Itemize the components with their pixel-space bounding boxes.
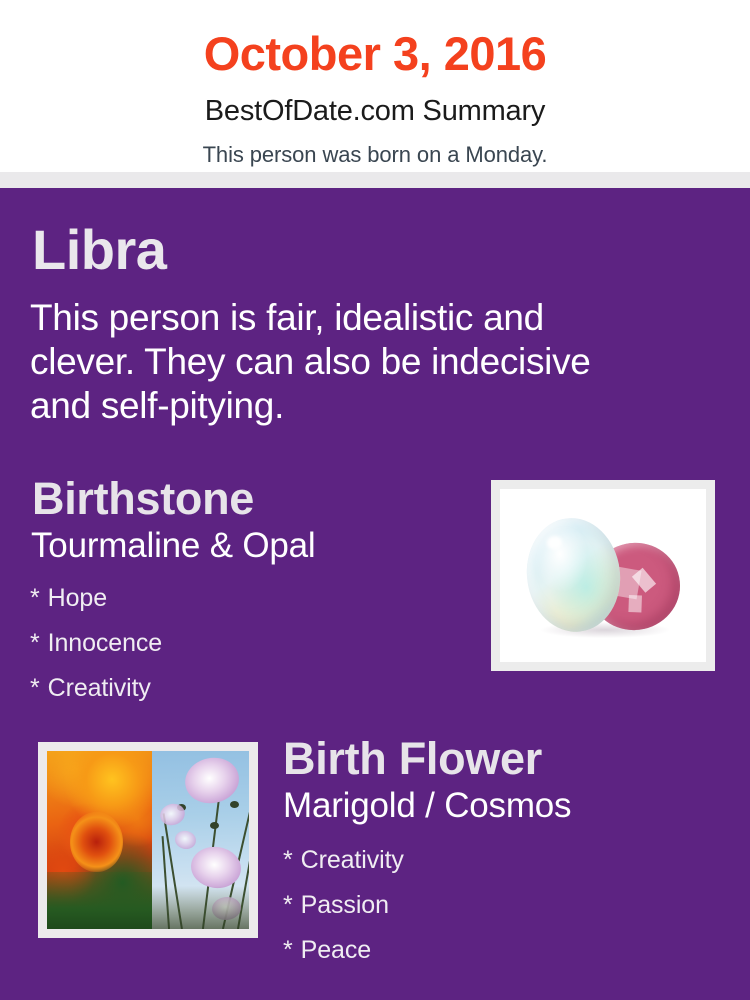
birth-flower-heading: Birth Flower bbox=[283, 736, 542, 781]
birthstone-heading: Birthstone bbox=[32, 476, 254, 521]
zodiac-description: This person is fair, idealistic and clev… bbox=[30, 296, 630, 428]
birth-flower-trait-label: Creativity bbox=[301, 846, 404, 874]
birthstone-trait-label: Hope bbox=[48, 584, 107, 612]
birth-flower-trait-label: Passion bbox=[301, 891, 389, 919]
birthstone-trait-label: Creativity bbox=[48, 674, 151, 702]
born-day-label: This person was born on a Monday. bbox=[0, 126, 750, 166]
birth-flower-trait-label: Peace bbox=[301, 936, 371, 964]
flower-bud bbox=[210, 822, 219, 829]
gem-facet bbox=[628, 594, 641, 612]
birthstone-trait-label: Innocence bbox=[48, 629, 162, 657]
bullet-asterisk-icon: * bbox=[30, 629, 40, 657]
summary-card: October 3, 2016 BestOfDate.com Summary T… bbox=[0, 0, 750, 1000]
list-item: *Peace bbox=[283, 928, 404, 973]
flower-bud bbox=[230, 801, 239, 808]
birthstone-image-frame bbox=[491, 480, 715, 671]
list-item: *Innocence bbox=[30, 621, 162, 666]
birthstone-image bbox=[500, 489, 706, 662]
bullet-asterisk-icon: * bbox=[283, 936, 293, 964]
page-title: October 3, 2016 bbox=[0, 0, 750, 77]
list-item: *Passion bbox=[283, 883, 404, 928]
card-header: October 3, 2016 BestOfDate.com Summary T… bbox=[0, 0, 750, 172]
marigold-photo-half bbox=[47, 751, 152, 929]
site-summary-label: BestOfDate.com Summary bbox=[0, 77, 750, 126]
birth-flower-image bbox=[47, 751, 249, 929]
zodiac-sign-name: Libra bbox=[32, 222, 166, 278]
list-item: *Hope bbox=[30, 576, 162, 621]
birth-flower-trait-list: *Creativity *Passion *Peace bbox=[283, 838, 404, 973]
birth-flower-image-frame bbox=[38, 742, 258, 938]
cosmos-blossom bbox=[174, 829, 199, 851]
bullet-asterisk-icon: * bbox=[283, 891, 293, 919]
cosmos-blossom bbox=[188, 844, 244, 892]
bullet-asterisk-icon: * bbox=[30, 584, 40, 612]
bullet-asterisk-icon: * bbox=[283, 846, 293, 874]
bullet-asterisk-icon: * bbox=[30, 674, 40, 702]
header-divider bbox=[0, 172, 750, 188]
cosmos-photo-half bbox=[152, 751, 249, 929]
birthstone-names: Tourmaline & Opal bbox=[31, 528, 316, 563]
foliage-shadow bbox=[152, 886, 249, 929]
list-item: *Creativity bbox=[283, 838, 404, 883]
birthstone-trait-list: *Hope *Innocence *Creativity bbox=[30, 576, 162, 711]
birth-flower-names: Marigold / Cosmos bbox=[283, 788, 571, 823]
details-panel: Libra This person is fair, idealistic an… bbox=[0, 188, 750, 1000]
cosmos-blossom bbox=[181, 753, 243, 808]
list-item: *Creativity bbox=[30, 666, 162, 711]
